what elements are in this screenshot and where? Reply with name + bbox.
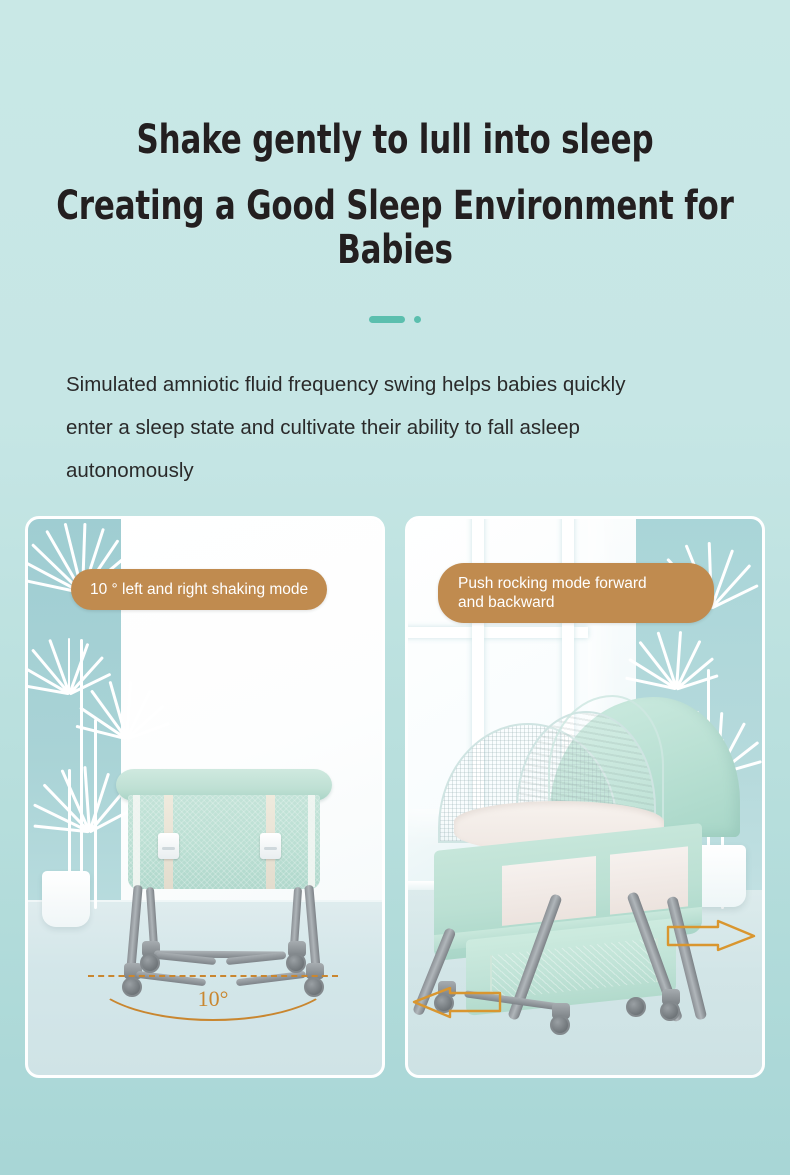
page-title-line-2: Creating a Good Sleep Environment for Ba… xyxy=(55,184,734,272)
frame-leg xyxy=(304,885,320,971)
edge-band xyxy=(308,795,315,887)
arrow-backward-icon xyxy=(410,987,502,1023)
window-mullion xyxy=(405,627,588,638)
strap-buckle xyxy=(260,833,281,859)
edge-band xyxy=(133,795,140,887)
divider-dash-icon xyxy=(369,316,405,323)
caster-wheel xyxy=(660,1001,680,1021)
badge-label: 10 ° left and right shaking mode xyxy=(90,581,308,598)
strap-buckle xyxy=(158,833,179,859)
body-description: Simulated amniotic fluid frequency swing… xyxy=(66,363,734,492)
page-title-line-1: Shake gently to lull into sleep xyxy=(55,118,734,162)
caster-wheel xyxy=(626,997,646,1017)
arrow-forward-icon xyxy=(666,917,758,953)
heading-block: Shake gently to lull into sleep Creating… xyxy=(0,0,790,272)
plant-pot xyxy=(42,871,90,927)
feature-card-push-rocking[interactable]: Push rocking mode forward and backward xyxy=(405,516,765,1078)
badge-left-right-shaking: 10 ° left and right shaking mode xyxy=(71,569,327,610)
feature-card-left-right-shaking[interactable]: 10° 10 ° left and right shaking mode xyxy=(25,516,385,1078)
angle-annotation: 10° xyxy=(88,969,338,1027)
body-line-1: Simulated amniotic fluid frequency swing… xyxy=(66,363,734,406)
plant-stem xyxy=(94,719,97,909)
caster-wheel xyxy=(550,1015,570,1035)
bassinet-body xyxy=(128,795,320,889)
badge-label-line-2: and backward xyxy=(458,593,694,612)
frame-leg xyxy=(290,887,302,949)
angle-value: 10° xyxy=(88,986,338,1012)
storage-mesh xyxy=(490,938,658,1000)
frame-leg xyxy=(146,887,158,949)
bassinet-product xyxy=(430,697,730,1027)
bassinet-product xyxy=(116,769,332,999)
divider-dot-icon xyxy=(414,316,421,323)
body-line-3: autonomously xyxy=(66,449,734,492)
feature-cards: 10° 10 ° left and right shaking mode xyxy=(25,516,765,1078)
mesh-fabric xyxy=(128,795,320,889)
plant-stem xyxy=(80,639,83,907)
badge-push-rocking: Push rocking mode forward and backward xyxy=(438,563,714,623)
badge-label-line-1: Push rocking mode forward xyxy=(458,574,694,593)
section-divider xyxy=(0,316,790,323)
body-line-2: enter a sleep state and cultivate their … xyxy=(66,406,734,449)
